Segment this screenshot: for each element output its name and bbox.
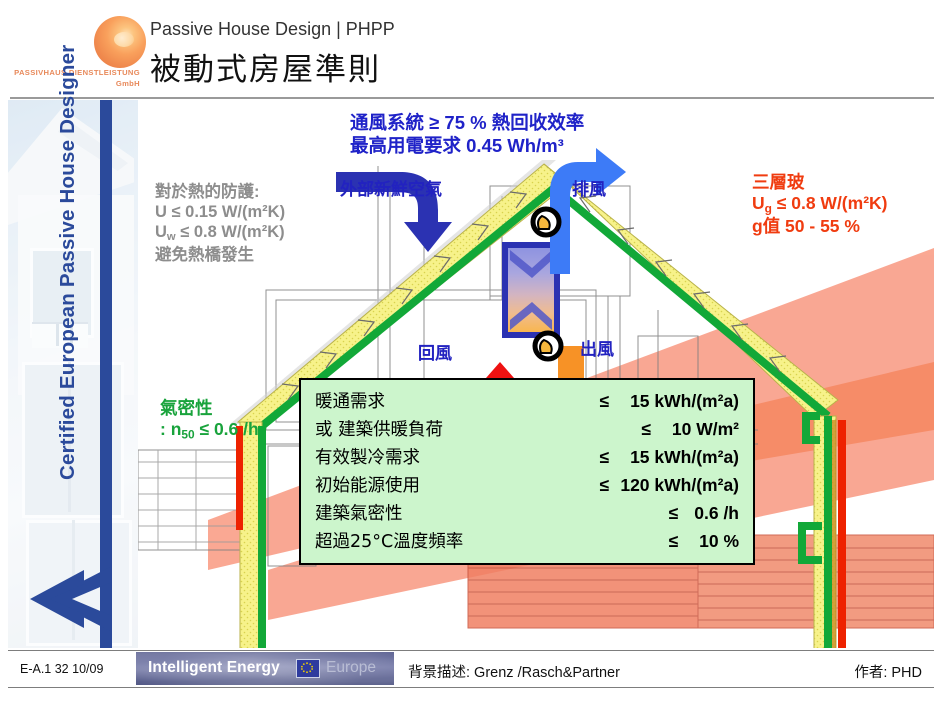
heat-protection-line4: 避免熱橋發生 [155,245,285,265]
slide: PASSIVHAUS DIENSTLEISTUNG GmbH Passive H… [0,0,934,711]
heat-protection-line3: Uw ≤ 0.8 W/(m²K) [155,222,285,245]
criteria-value: ≤15 kWh/(m²a) [600,391,739,412]
slide-footer: E-A.1 32 10/09 Intelligent Energy Europe… [8,650,934,688]
criteria-value: ≤0.6 /h [669,503,739,524]
orange-sphere-icon [94,16,146,68]
criteria-label: 有效製冷需求 [315,444,420,469]
table-row: 或 建築供暖負荷 ≤10 W/m² [315,416,739,444]
fresh-air-label: 外部新鮮空氣 [340,180,442,201]
glazing-line2: Ug ≤ 0.8 W/(m²K) [752,193,888,216]
ug-value: ≤ 0.8 W/(m²K) [772,193,888,213]
passive-house-criteria-table: 暖通需求 ≤15 kWh/(m²a) 或 建築供暖負荷 ≤10 W/m² 有效製… [299,378,755,565]
table-row: 建築氣密性 ≤0.6 /h [315,500,739,528]
uw-value: ≤ 0.8 W/(m²K) [176,223,285,241]
heat-protection-note: 對於熱的防護: U ≤ 0.15 W/(m²K) Uw ≤ 0.8 W/(m²K… [155,182,285,265]
ventilation-note: 通風系統 ≥ 75 % 熱回收效率 最高用電要求 0.45 Wh/m³ [350,112,584,157]
iee-logo-region: Europe [326,659,376,677]
background-credit: 背景描述: Grenz /Rasch&Partner [408,661,620,682]
criteria-label: 初始能源使用 [315,472,420,497]
airtightness-note: 氣密性 : n50 ≤ 0.6 /h [160,398,259,442]
n50-value: ≤ 0.6 /h [195,419,259,439]
header-eyebrow: Passive House Design | PHPP [150,19,395,40]
glazing-line3: g值 50 - 55 % [752,216,888,237]
uw-subscript: w [167,231,176,243]
criteria-value: ≤10 W/m² [641,419,739,440]
uw-symbol: U [155,223,167,241]
heat-protection-line1: 對於熱的防護: [155,182,285,202]
ug-subscript: g [765,202,772,216]
return-air-label: 回風 [418,344,452,365]
header-divider [10,97,934,99]
table-row: 超過25°C溫度頻率 ≤10 % [315,528,739,556]
n50-symbol: : n [160,419,181,439]
table-row: 初始能源使用 ≤120 kWh/(m²a) [315,472,739,500]
slide-header: PASSIVHAUS DIENSTLEISTUNG GmbH Passive H… [0,0,934,98]
slide-code: E-A.1 32 10/09 [20,662,103,676]
criteria-value: ≤120 kWh/(m²a) [600,475,739,496]
criteria-label: 或 建築供暖負荷 [315,416,443,441]
airtightness-line1: 氣密性 [160,398,259,419]
glazing-note: 三層玻 Ug ≤ 0.8 W/(m²K) g值 50 - 55 % [752,172,888,238]
airtightness-line2: : n50 ≤ 0.6 /h [160,419,259,442]
table-row: 暖通需求 ≤15 kWh/(m²a) [315,388,739,416]
heat-protection-line2: U ≤ 0.15 W/(m²K) [155,202,285,222]
glazing-line1: 三層玻 [752,172,888,193]
supply-air-label: 出風 [580,340,614,361]
exhaust-air-label: 排風 [572,180,606,201]
eu-flag-icon [296,659,320,678]
criteria-value: ≤10 % [669,531,739,552]
author-credit: 作者: PHD [854,661,922,682]
exhaust-air-arrow [550,148,626,274]
criteria-value: ≤15 kWh/(m²a) [600,447,739,468]
n50-subscript: 50 [181,428,194,442]
criteria-label: 建築氣密性 [315,500,403,525]
page-title: 被動式房屋準則 [150,44,381,89]
iee-logo-text: Intelligent Energy [148,659,280,677]
double-chevron-left-icon [28,556,114,642]
ug-symbol: U [752,193,765,213]
banner-label: Certified European Passive House Designe… [56,40,80,480]
left-wall-assembly [236,422,262,648]
ventilation-note-line1: 通風系統 ≥ 75 % 熱回收效率 [350,112,584,135]
criteria-label: 暖通需求 [315,388,385,413]
table-row: 有效製冷需求 ≤15 kWh/(m²a) [315,444,739,472]
ventilation-note-line2: 最高用電要求 0.45 Wh/m³ [350,135,584,158]
intelligent-energy-europe-logo: Intelligent Energy Europe [136,652,394,685]
criteria-label: 超過25°C溫度頻率 [315,528,463,553]
